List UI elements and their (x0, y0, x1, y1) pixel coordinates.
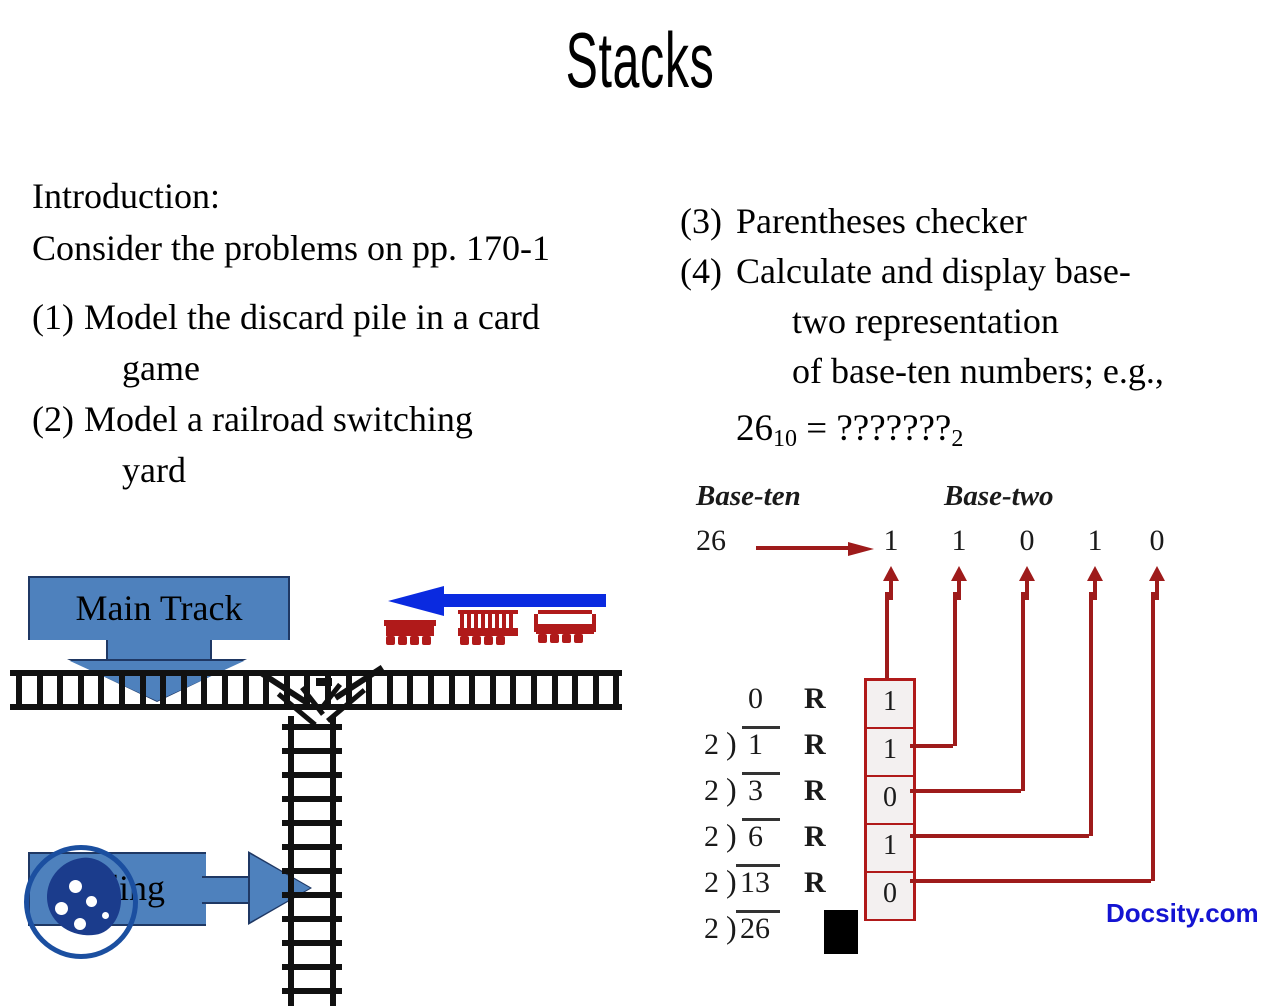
track-tie (510, 670, 516, 710)
division-bracket: ) (726, 909, 737, 946)
track-tie (428, 670, 434, 710)
binary-digit: 1 (880, 524, 902, 558)
track-tie (119, 670, 125, 710)
division-divisor: 2 (704, 774, 719, 808)
left-numbered-list: (1) Model the discard pile in a card gam… (32, 292, 672, 496)
source-right-arrow-icon (756, 542, 884, 554)
equation-unknown-subscript: 2 (951, 426, 963, 452)
track-tie (57, 670, 63, 710)
division-bracket: ) (726, 725, 737, 762)
stack-cell: 0 (864, 873, 916, 921)
cursor-block (824, 910, 858, 954)
list-item-text-cont: game (84, 343, 672, 394)
page-title: Stacks (243, 20, 1037, 102)
siding-tie (282, 892, 342, 898)
binary-digit: 1 (948, 524, 970, 558)
binary-digit: 0 (1146, 524, 1168, 558)
binary-digit: 1 (1084, 524, 1106, 558)
siding-tie (282, 940, 342, 946)
division-remainder-label: R (804, 866, 826, 900)
division-remainder-label: R (804, 820, 826, 854)
division-dividend: 1 (748, 728, 763, 762)
stack-connector-horizontal (910, 744, 953, 748)
left-text-column: Introduction: Consider the problems on p… (32, 170, 672, 496)
list-item-text-cont2: of base-ten numbers; e.g., (736, 346, 1240, 396)
track-tie (469, 670, 475, 710)
track-tie (37, 670, 43, 710)
docsity-watermark-text: Docsity.com (1106, 898, 1259, 929)
stack-connector-horizontal (910, 879, 1151, 883)
track-tie (449, 670, 455, 710)
division-vinculum (736, 910, 780, 913)
list-item-text: Model the discard pile in a card (84, 297, 540, 337)
track-tie (222, 670, 228, 710)
slide-canvas: Stacks Introduction: Consider the proble… (0, 0, 1280, 960)
siding-tie (282, 796, 342, 802)
division-dividend: 0 (748, 682, 763, 716)
main-track-label: Main Track (28, 576, 290, 640)
list-item-marker: (3) (680, 196, 736, 246)
stack-cell: 1 (864, 825, 916, 873)
binary-digit: 0 (1016, 524, 1038, 558)
list-item: (2) Model a railroad switching yard (32, 394, 672, 496)
railcar-flatcar-icon (384, 620, 438, 648)
track-tie (243, 670, 249, 710)
siding-tie (282, 868, 342, 874)
list-item-text: Parentheses checker (736, 196, 1240, 246)
list-item-text: Model a railroad switching (84, 399, 473, 439)
division-vinculum (736, 864, 780, 867)
list-item: (3) Parentheses checker (680, 196, 1240, 246)
siding-tie (282, 724, 342, 730)
list-item: (1) Model the discard pile in a card gam… (32, 292, 672, 394)
intro-heading: Introduction: (32, 170, 672, 222)
track-tie (552, 670, 558, 710)
track-tie (78, 670, 84, 710)
track-tie (613, 670, 619, 710)
track-tie (16, 670, 22, 710)
docsity-logo-icon (24, 845, 138, 959)
track-tie (593, 670, 599, 710)
siding-tie (282, 844, 342, 850)
equation-value-subscript: 10 (773, 426, 797, 452)
figure-label-base-ten: Base-ten (696, 480, 801, 513)
siding-tie (282, 748, 342, 754)
division-dividend: 13 (740, 866, 770, 900)
stack-connector-horizontal (910, 834, 1089, 838)
remainder-stack: 11010 (864, 678, 910, 921)
siding-tie (282, 772, 342, 778)
intro-line: Consider the problems on pp. 170-1 (32, 222, 672, 274)
track-tie (140, 670, 146, 710)
source-number: 26 (696, 524, 726, 558)
division-bracket: ) (726, 771, 737, 808)
track-tie (490, 670, 496, 710)
division-bracket: ) (726, 863, 737, 900)
division-divisor: 2 (704, 912, 719, 946)
stack-cell: 1 (864, 678, 916, 729)
track-tie (98, 670, 104, 710)
division-dividend: 26 (740, 912, 770, 946)
track-tie (160, 670, 166, 710)
railcar-gondola-icon (456, 610, 520, 648)
division-vinculum (742, 818, 780, 821)
division-divisor: 2 (704, 728, 719, 762)
list-item-marker: (2) (32, 394, 84, 445)
stack-connector-vertical (1021, 592, 1025, 791)
track-tie (181, 670, 187, 710)
stack-connector-vertical (953, 592, 957, 746)
equation-equals: = (806, 408, 827, 449)
siding-tie (282, 916, 342, 922)
equation-unknown: ??????? (836, 408, 951, 449)
list-item-marker: (4) (680, 246, 736, 296)
right-text-column: (3) Parentheses checker (4) Calculate an… (680, 196, 1240, 456)
division-vinculum (742, 726, 780, 729)
stack-cell: 0 (864, 777, 916, 825)
division-remainder-label: R (804, 774, 826, 808)
stack-connector-horizontal (910, 789, 1021, 793)
track-tie (572, 670, 578, 710)
stack-connector-vertical (885, 592, 889, 678)
division-divisor: 2 (704, 820, 719, 854)
list-item-text-cont: yard (84, 445, 672, 496)
division-dividend: 6 (748, 820, 763, 854)
figure-label-base-two: Base-two (944, 480, 1054, 513)
list-item-text: Calculate and display base- (736, 251, 1131, 291)
division-bracket: ) (726, 817, 737, 854)
stack-connector-vertical (1151, 592, 1155, 881)
track-tie (201, 670, 207, 710)
division-dividend: 3 (748, 774, 763, 808)
list-item-marker: (1) (32, 292, 84, 343)
base-conversion-equation: 2610 = ???????2 (680, 406, 1240, 456)
stack-connector-vertical (1089, 592, 1093, 836)
track-tie (407, 670, 413, 710)
list-item: (4) Calculate and display base- two repr… (680, 246, 1240, 396)
track-tie (531, 670, 537, 710)
list-item-text-cont: two representation (736, 296, 1240, 346)
base-conversion-figure: Base-ten Base-two 26 11010 0R2)1R2)3R2)6… (676, 480, 1236, 950)
division-vinculum (742, 772, 780, 775)
siding-tie (282, 964, 342, 970)
stack-cell: 1 (864, 729, 916, 777)
division-remainder-label: R (804, 682, 826, 716)
siding-track-rails (288, 716, 336, 1006)
division-divisor: 2 (704, 866, 719, 900)
railcar-boxcar-icon (534, 610, 596, 648)
division-remainder-label: R (804, 728, 826, 762)
siding-tie (282, 820, 342, 826)
siding-arrow-icon (202, 876, 252, 904)
equation-value: 26 (736, 408, 773, 449)
siding-tie (282, 988, 342, 994)
